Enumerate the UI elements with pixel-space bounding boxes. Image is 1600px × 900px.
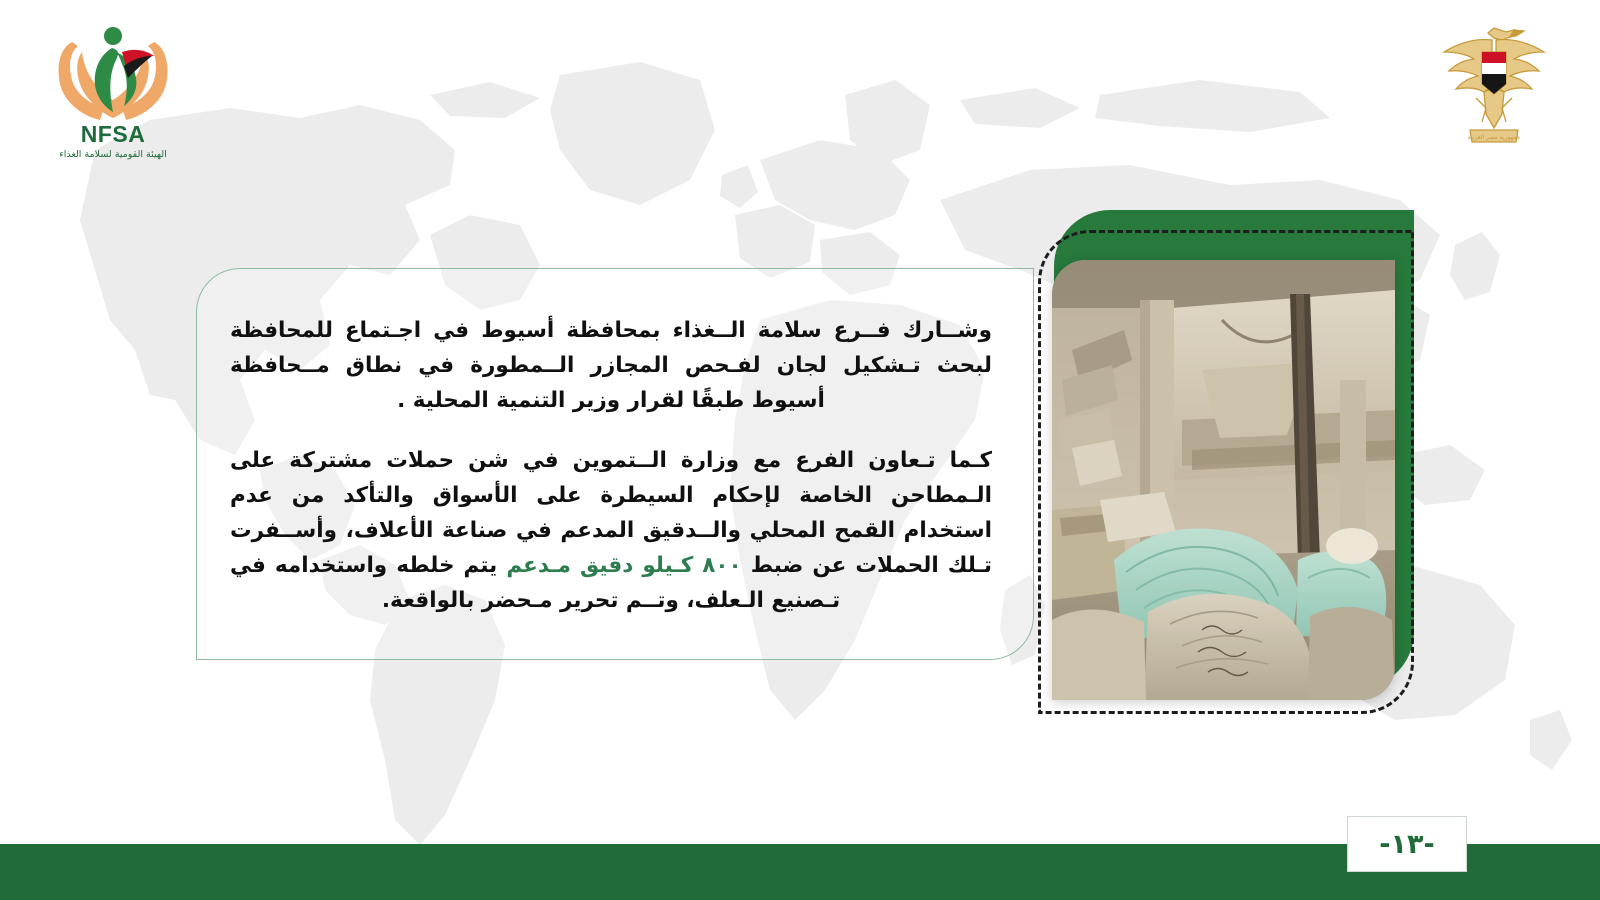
evidence-photo	[1052, 260, 1395, 700]
emblem-caption: جمهورية مصر العربية	[1468, 134, 1521, 141]
nfsa-subtitle: الهيئة القومية لسلامة الغذاء	[38, 149, 188, 160]
text-card-body: وشــارك فــرع سلامة الــغذاء بمحافظة أسي…	[196, 268, 1034, 660]
egypt-eagle-emblem: جمهورية مصر العربية	[1436, 18, 1552, 150]
nfsa-logo-mark	[38, 22, 188, 122]
nfsa-logo: NFSA الهيئة القومية لسلامة الغذاء	[38, 22, 188, 162]
quantity-highlight: ٨٠٠ كـيلو دقيق مـدعم	[506, 553, 741, 578]
paragraph-spacer	[230, 418, 992, 444]
photo-block	[1030, 210, 1414, 714]
paragraph-2: كـما تـعاون الفرع مع وزارة الــتموين في …	[230, 444, 992, 618]
paragraph-1: وشــارك فــرع سلامة الــغذاء بمحافظة أسي…	[230, 314, 992, 418]
nfsa-acronym: NFSA	[38, 123, 188, 146]
slide-root: NFSA الهيئة القومية لسلامة الغذاء	[0, 0, 1600, 900]
page-number-badge: -١٣-	[1347, 816, 1467, 872]
